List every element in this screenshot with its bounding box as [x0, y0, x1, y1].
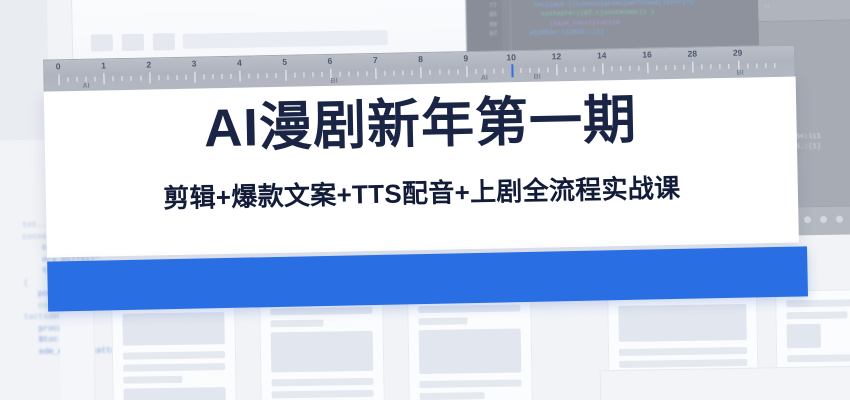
ruler-tick-minor	[448, 69, 449, 74]
ruler-cursor[interactable]	[511, 64, 513, 77]
ruler-tick-minor	[457, 69, 458, 74]
ruler-number: 28	[687, 49, 697, 59]
poster-group: 0123456789101214162829 AIBIAIBIBI AI漫剧新年…	[0, 0, 850, 400]
ruler-tick-minor	[385, 71, 386, 76]
ruler-tick-minor	[403, 70, 404, 75]
ruler-tick-minor	[294, 73, 295, 78]
ruler-tick-minor	[548, 67, 549, 72]
ruler-tick-minor	[484, 69, 485, 74]
ruler-tick-minor	[113, 76, 114, 81]
ruler-tick-minor	[520, 68, 521, 73]
ruler-tick-minor	[158, 75, 159, 80]
ruler-tick-minor	[95, 77, 96, 82]
ruler-tick-minor	[774, 63, 775, 68]
ruler-tick-minor	[729, 64, 730, 69]
poster-canvas: 13 35 26 77 85 86 87 radiami(itemedstcer…	[0, 0, 850, 400]
ruler-tick-minor	[765, 63, 766, 68]
ruler-number: 7	[373, 55, 378, 65]
ruler-tick-minor	[674, 65, 675, 70]
ruler-tick-minor	[167, 75, 168, 80]
ruler-tick-minor	[203, 74, 204, 79]
ruler-tick-minor	[185, 75, 186, 80]
ruler-number: 9	[463, 53, 468, 63]
ruler-sub-label: AI	[82, 83, 89, 90]
ruler-tick-minor	[593, 67, 594, 72]
ruler-tick-minor	[357, 71, 358, 76]
ruler-number: 2	[146, 59, 151, 69]
ruler-tick-minor	[575, 67, 576, 72]
ruler-number: 3	[192, 59, 197, 69]
ruler-tick-minor	[539, 68, 540, 73]
ruler-tick-minor	[258, 73, 259, 78]
ruler-tick-minor	[683, 65, 684, 70]
ruler-sub-label: BI	[737, 70, 744, 77]
ruler-tick-minor	[140, 76, 141, 81]
poster-card: AI漫剧新年第一期 剪辑+爆款文案+TTS配音+上剧全流程实战课	[44, 77, 799, 258]
ruler-number: 14	[597, 50, 607, 60]
ruler-number: 8	[418, 54, 423, 64]
ruler-tick-minor	[620, 66, 621, 71]
ruler-tick-minor	[86, 77, 87, 82]
ruler-tick-minor	[611, 66, 612, 71]
ruler-tick-minor	[77, 77, 78, 82]
ruler-tick-minor	[493, 69, 494, 74]
ruler-sub-label: AI	[481, 75, 488, 82]
ruler-number: 5	[282, 57, 287, 67]
ruler-tick-minor	[439, 70, 440, 75]
ruler-sub-label: BI	[331, 78, 338, 85]
ruler-tick-minor	[711, 64, 712, 69]
ruler-tick-minor	[394, 71, 395, 76]
ruler-tick-minor	[747, 63, 748, 68]
ruler-number: 10	[506, 52, 516, 62]
ruler-tick-minor	[176, 75, 177, 80]
ruler-tick-minor	[475, 69, 476, 74]
ruler-tick-minor	[430, 70, 431, 75]
ruler-tick-minor	[756, 63, 757, 68]
ruler-tick-minor	[638, 66, 639, 71]
ruler-sub-label: BI	[534, 74, 541, 81]
ruler-tick-minor	[339, 72, 340, 77]
ruler-tick-minor	[566, 67, 567, 72]
ruler-number: 0	[56, 61, 61, 71]
ruler-tick-minor	[212, 74, 213, 79]
ruler-tick-minor	[303, 72, 304, 77]
ruler-tick-minor	[656, 65, 657, 70]
ruler-tick-minor	[276, 73, 277, 78]
ruler-number: 12	[552, 51, 562, 61]
ruler-tick-minor	[665, 65, 666, 70]
ruler-number: 29	[733, 48, 743, 58]
ruler-tick-minor	[312, 72, 313, 77]
ruler-number: 6	[328, 56, 333, 66]
ruler-tick-minor	[584, 67, 585, 72]
ruler-tick-minor	[249, 73, 250, 78]
ruler-tick-minor	[502, 68, 503, 73]
ruler-tick-minor	[720, 64, 721, 69]
ruler-tick-minor	[366, 71, 367, 76]
page-subtitle: 剪辑+爆款文案+TTS配音+上剧全流程实战课	[46, 173, 798, 214]
ruler-number: 4	[237, 58, 242, 68]
ruler-tick-minor	[131, 76, 132, 81]
ruler-tick-minor	[321, 72, 322, 77]
page-title: AI漫剧新年第一期	[44, 91, 797, 159]
accent-bar	[47, 246, 808, 311]
ruler-tick-minor	[702, 64, 703, 69]
ruler-number: 1	[101, 60, 106, 70]
ruler-tick-minor	[348, 71, 349, 76]
ruler-tick-minor	[222, 74, 223, 79]
ruler-tick-minor	[68, 77, 69, 82]
ruler-tick-minor	[529, 68, 530, 73]
ruler-tick-minor	[267, 73, 268, 78]
ruler-tick-minor	[412, 70, 413, 75]
ruler-number: 16	[642, 49, 652, 59]
ruler-tick-minor	[231, 74, 232, 79]
ruler-tick-minor	[122, 76, 123, 81]
ruler-tick-minor	[629, 66, 630, 71]
